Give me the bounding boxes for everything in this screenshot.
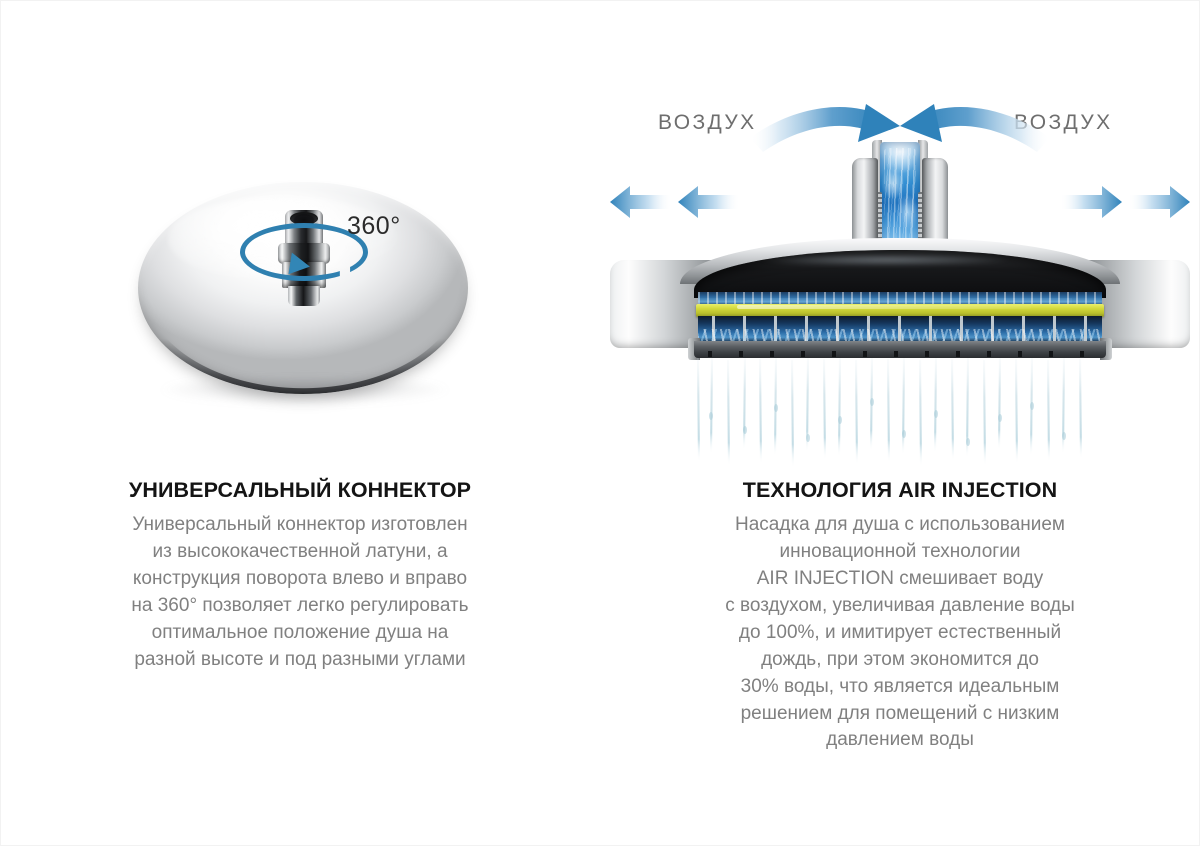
connector-base bbox=[288, 286, 320, 306]
side-air-arrow-left-outer bbox=[610, 186, 672, 218]
body-line: Насадка для душа с использованием bbox=[650, 512, 1150, 539]
panel-universal-connector: 360° УНИВЕРСАЛЬНЫЙ КОННЕКТОР Универсальн… bbox=[0, 0, 600, 846]
shower-disc-shadow bbox=[160, 378, 450, 404]
body-line: конструкция поворота влево и вправо bbox=[50, 566, 550, 593]
faceplate bbox=[694, 341, 1106, 358]
rotation-degree-label: 360° bbox=[347, 212, 401, 241]
panel-body-air-injection: Насадка для душа с использованием иннова… bbox=[650, 512, 1150, 755]
body-line: оптимальное положение душа на bbox=[50, 620, 550, 647]
panel-title-universal-connector: УНИВЕРСАЛЬНЫЙ КОННЕКТОР bbox=[50, 478, 550, 503]
panel-title-air-injection: ТЕХНОЛОГИЯ AIR INJECTION bbox=[650, 478, 1150, 503]
rotation-arrowhead-icon bbox=[288, 253, 311, 278]
caption-universal-connector: УНИВЕРСАЛЬНЫЙ КОННЕКТОР Универсальный ко… bbox=[50, 478, 550, 674]
faceplate-holes bbox=[694, 351, 1106, 357]
panel-body-universal-connector: Универсальный коннектор изготовлен из вы… bbox=[50, 512, 550, 674]
figure-cutaway-shower-head: ВОЗДУХ ВОЗДУХ bbox=[600, 80, 1200, 470]
body-line: AIR INJECTION смешивает воду bbox=[650, 566, 1150, 593]
side-air-arrow-left-inner bbox=[678, 186, 740, 218]
body-line: давлением воды bbox=[650, 727, 1150, 754]
shower-head-cutaway-body bbox=[610, 238, 1190, 348]
side-air-arrow-right-inner bbox=[1060, 186, 1122, 218]
body-line: на 360° позволяет легко регулировать bbox=[50, 593, 550, 620]
water-spray-streams-icon bbox=[688, 358, 1092, 470]
panel-air-injection: ВОЗДУХ ВОЗДУХ bbox=[600, 0, 1200, 846]
body-line: Универсальный коннектор изготовлен bbox=[50, 512, 550, 539]
body-line: решением для помещений с низким bbox=[650, 701, 1150, 728]
body-line: с воздухом, увеличивая давление воды bbox=[650, 593, 1150, 620]
body-line: разной высоте и под разными углами bbox=[50, 647, 550, 674]
body-line: 30% воды, что является идеальным bbox=[650, 674, 1150, 701]
infographic-page: 360° УНИВЕРСАЛЬНЫЙ КОННЕКТОР Универсальн… bbox=[0, 0, 1200, 846]
side-air-arrow-right-outer bbox=[1128, 186, 1190, 218]
mixing-chamber-highlight bbox=[760, 254, 1010, 266]
body-line: из высококачественной латуни, а bbox=[50, 539, 550, 566]
figure-chrome-shower-disc: 360° bbox=[0, 150, 600, 450]
nozzle-chamber bbox=[698, 316, 1102, 342]
caption-air-injection: ТЕХНОЛОГИЯ AIR INJECTION Насадка для душ… bbox=[650, 478, 1150, 754]
water-spray bbox=[688, 358, 1092, 470]
body-line: дождь, при этом экономится до bbox=[650, 647, 1150, 674]
body-line: инновационной технологии bbox=[650, 539, 1150, 566]
body-line: до 100%, и имитирует естественный bbox=[650, 620, 1150, 647]
